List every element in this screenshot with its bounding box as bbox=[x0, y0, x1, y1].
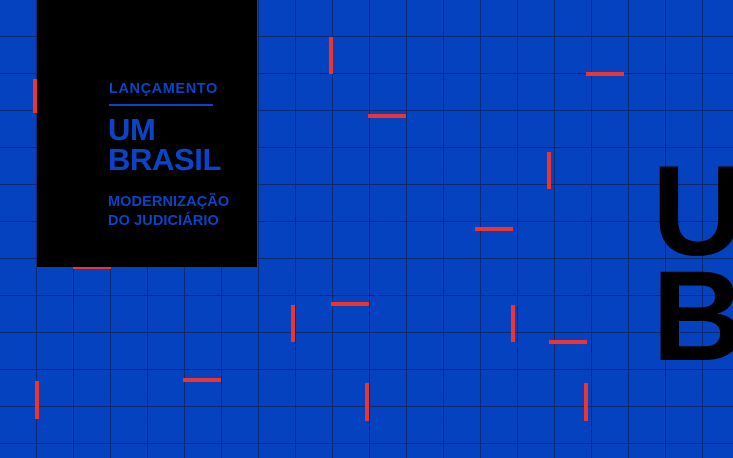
poster-canvas: U B LANÇAMENTO UM BRASIL MODERNIZAÇÃO DO… bbox=[0, 0, 733, 458]
page-subtitle-line-2: DO JUDICIÁRIO bbox=[108, 212, 229, 231]
page-subtitle: MODERNIZAÇÃO DO JUDICIÁRIO bbox=[108, 193, 229, 231]
red-tick-mark bbox=[35, 381, 39, 419]
red-tick-mark bbox=[584, 383, 588, 421]
page-subtitle-line-1: MODERNIZAÇÃO bbox=[108, 193, 229, 212]
kicker-label: LANÇAMENTO bbox=[109, 81, 218, 97]
red-tick-mark bbox=[329, 37, 333, 74]
ub-logo-wordmark: U B bbox=[652, 160, 733, 370]
black-title-card: LANÇAMENTO UM BRASIL MODERNIZAÇÃO DO JUD… bbox=[37, 0, 257, 267]
red-tick-mark bbox=[291, 305, 295, 342]
red-tick-mark bbox=[511, 305, 515, 342]
red-tick-mark bbox=[368, 114, 406, 118]
red-tick-mark bbox=[547, 152, 551, 189]
page-title: UM BRASIL bbox=[108, 115, 221, 176]
page-title-line-2: BRASIL bbox=[108, 145, 221, 175]
red-tick-mark bbox=[183, 378, 221, 382]
red-tick-mark bbox=[549, 340, 587, 344]
red-tick-mark bbox=[331, 302, 369, 306]
ub-logo-letter-b: B bbox=[652, 265, 733, 370]
kicker-underline-divider bbox=[109, 104, 213, 106]
red-tick-mark bbox=[475, 227, 513, 231]
red-tick-mark bbox=[365, 383, 369, 421]
page-title-line-1: UM bbox=[108, 115, 221, 145]
red-tick-mark bbox=[586, 72, 624, 76]
